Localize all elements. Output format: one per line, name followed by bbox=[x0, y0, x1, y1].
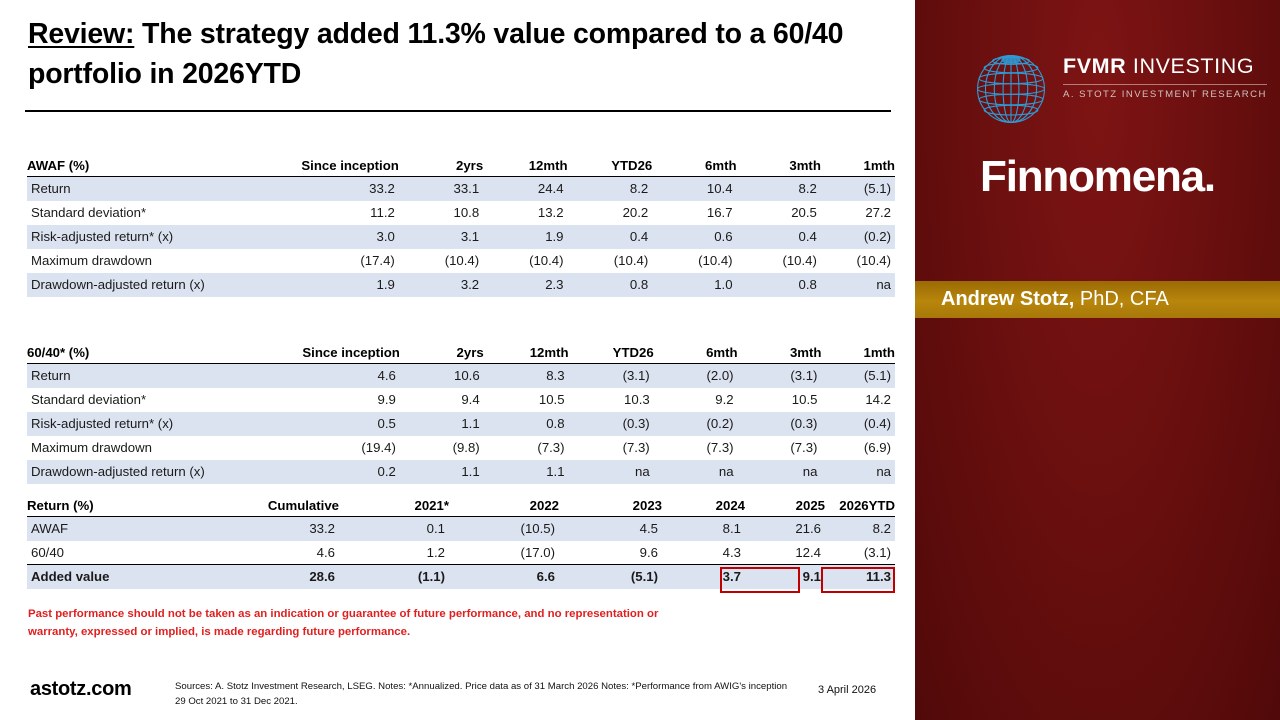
cell: (10.4) bbox=[652, 249, 736, 273]
fvmr-light: INVESTING bbox=[1126, 54, 1254, 78]
cell: 33.1 bbox=[399, 177, 483, 201]
table-annual-returns: Return (%) Cumulative 2021* 2022 2023 20… bbox=[27, 496, 895, 589]
col-header: 6mth bbox=[654, 343, 738, 364]
table-row: 60/40 4.6 1.2 (17.0) 9.6 4.3 12.4 (3.1) bbox=[27, 541, 895, 565]
col-header: 60/40* (%) bbox=[27, 343, 269, 364]
table-row: Risk-adjusted return* (x) 3.0 3.1 1.9 0.… bbox=[27, 225, 895, 249]
author-name-bold: Andrew Stotz, bbox=[941, 288, 1074, 310]
cell: 0.8 bbox=[484, 412, 569, 436]
cell: 16.7 bbox=[652, 201, 736, 225]
row-label: Added value bbox=[27, 565, 202, 589]
cell: 0.8 bbox=[568, 273, 653, 297]
cell: 1.9 bbox=[483, 225, 567, 249]
cell: na bbox=[738, 460, 822, 484]
cell: na bbox=[821, 273, 895, 297]
cell: 28.6 bbox=[202, 565, 339, 589]
cell: (2.0) bbox=[654, 364, 738, 388]
cell: (10.4) bbox=[483, 249, 567, 273]
cell: 9.4 bbox=[400, 388, 484, 412]
cell: 14.2 bbox=[821, 388, 895, 412]
col-header: 2024 bbox=[662, 496, 745, 517]
fvmr-bold: FVMR bbox=[1063, 54, 1126, 78]
table-row: Return 4.6 10.6 8.3 (3.1) (2.0) (3.1) (5… bbox=[27, 364, 895, 388]
fvmr-logo-text: FVMR INVESTING A. STOTZ INVESTMENT RESEA… bbox=[1063, 54, 1273, 100]
cell: 1.2 bbox=[339, 541, 449, 565]
col-header: 2026YTD bbox=[825, 496, 895, 517]
cell: 1.1 bbox=[400, 412, 484, 436]
title-divider bbox=[25, 110, 891, 112]
cell: 0.6 bbox=[652, 225, 736, 249]
table-row: AWAF 33.2 0.1 (10.5) 4.5 8.1 21.6 8.2 bbox=[27, 517, 895, 541]
table-row: Standard deviation* 11.2 10.8 13.2 20.2 … bbox=[27, 201, 895, 225]
col-header: 3mth bbox=[737, 156, 821, 177]
table-header-row: Return (%) Cumulative 2021* 2022 2023 20… bbox=[27, 496, 895, 517]
cell: 12.4 bbox=[745, 541, 825, 565]
cell: 10.8 bbox=[399, 201, 483, 225]
fvmr-wordmark: FVMR INVESTING bbox=[1063, 54, 1273, 79]
cell: 11.2 bbox=[268, 201, 398, 225]
col-header: 2yrs bbox=[399, 156, 483, 177]
row-label: Return bbox=[27, 364, 269, 388]
cell: 3.7 bbox=[662, 565, 745, 589]
row-label: AWAF bbox=[27, 517, 202, 541]
col-header: YTD26 bbox=[568, 156, 653, 177]
cell: 1.1 bbox=[484, 460, 569, 484]
cell: 4.6 bbox=[269, 364, 400, 388]
row-label: Risk-adjusted return* (x) bbox=[27, 225, 268, 249]
row-label: Return bbox=[27, 177, 268, 201]
cell: (5.1) bbox=[821, 364, 895, 388]
author-credentials: PhD, CFA bbox=[1074, 288, 1168, 310]
table-awaf: AWAF (%) Since inception 2yrs 12mth YTD2… bbox=[27, 156, 895, 297]
cell: (6.9) bbox=[821, 436, 895, 460]
cell: (7.3) bbox=[654, 436, 738, 460]
col-header: 2022 bbox=[449, 496, 559, 517]
author-bar: Andrew Stotz, PhD, CFA bbox=[915, 281, 1280, 318]
cell: 1.9 bbox=[268, 273, 398, 297]
cell: (3.1) bbox=[738, 364, 822, 388]
cell: 20.2 bbox=[568, 201, 653, 225]
row-label: 60/40 bbox=[27, 541, 202, 565]
cell: 0.4 bbox=[737, 225, 821, 249]
finnomena-wordmark: Finnomena. bbox=[915, 152, 1280, 202]
cell: 9.9 bbox=[269, 388, 400, 412]
fvmr-subtitle: A. STOTZ INVESTMENT RESEARCH bbox=[1063, 89, 1273, 100]
fvmr-divider bbox=[1063, 84, 1267, 85]
author-name: Andrew Stotz, PhD, CFA bbox=[941, 288, 1169, 311]
cell: 33.2 bbox=[268, 177, 398, 201]
cell: 8.3 bbox=[484, 364, 569, 388]
table-header-row: 60/40* (%) Since inception 2yrs 12mth YT… bbox=[27, 343, 895, 364]
cell: (7.3) bbox=[484, 436, 569, 460]
col-header: 2023 bbox=[559, 496, 662, 517]
table-header-row: AWAF (%) Since inception 2yrs 12mth YTD2… bbox=[27, 156, 895, 177]
cell: 10.5 bbox=[738, 388, 822, 412]
cell: (0.3) bbox=[738, 412, 822, 436]
cell: 33.2 bbox=[202, 517, 339, 541]
table-row: Maximum drawdown (17.4) (10.4) (10.4) (1… bbox=[27, 249, 895, 273]
cell: 13.2 bbox=[483, 201, 567, 225]
cell: 4.3 bbox=[662, 541, 745, 565]
cell: (10.5) bbox=[449, 517, 559, 541]
cell: 3.2 bbox=[399, 273, 483, 297]
cell: (9.8) bbox=[400, 436, 484, 460]
col-header: Since inception bbox=[269, 343, 400, 364]
cell: (17.4) bbox=[268, 249, 398, 273]
table-row: Drawdown-adjusted return (x) 0.2 1.1 1.1… bbox=[27, 460, 895, 484]
globe-icon bbox=[967, 45, 1055, 133]
table-row-added-value: Added value 28.6 (1.1) 6.6 (5.1) 3.7 9.1… bbox=[27, 565, 895, 589]
table-row: Drawdown-adjusted return (x) 1.9 3.2 2.3… bbox=[27, 273, 895, 297]
cell: (7.3) bbox=[569, 436, 654, 460]
col-header: 3mth bbox=[738, 343, 822, 364]
cell: (17.0) bbox=[449, 541, 559, 565]
cell: 1.1 bbox=[400, 460, 484, 484]
cell: (19.4) bbox=[269, 436, 400, 460]
slide-date: 3 April 2026 bbox=[818, 684, 876, 696]
cell: (3.1) bbox=[825, 541, 895, 565]
cell: 1.0 bbox=[652, 273, 736, 297]
cell: 8.1 bbox=[662, 517, 745, 541]
cell: 0.8 bbox=[737, 273, 821, 297]
row-label: Standard deviation* bbox=[27, 388, 269, 412]
col-header: AWAF (%) bbox=[27, 156, 268, 177]
sources-note: Sources: A. Stotz Investment Research, L… bbox=[175, 679, 795, 710]
cell: 8.2 bbox=[825, 517, 895, 541]
col-header: 12mth bbox=[483, 156, 567, 177]
cell: (5.1) bbox=[559, 565, 662, 589]
cell: (5.1) bbox=[821, 177, 895, 201]
col-header: 2021* bbox=[339, 496, 449, 517]
table-row: Return 33.2 33.1 24.4 8.2 10.4 8.2 (5.1) bbox=[27, 177, 895, 201]
col-header: 1mth bbox=[821, 156, 895, 177]
fvmr-logo: FVMR INVESTING A. STOTZ INVESTMENT RESEA… bbox=[935, 40, 1265, 140]
cell: 10.5 bbox=[484, 388, 569, 412]
cell: 9.6 bbox=[559, 541, 662, 565]
cell: (10.4) bbox=[821, 249, 895, 273]
col-header: 1mth bbox=[821, 343, 895, 364]
cell: 4.5 bbox=[559, 517, 662, 541]
cell: (10.4) bbox=[568, 249, 653, 273]
col-header: YTD26 bbox=[569, 343, 654, 364]
row-label: Risk-adjusted return* (x) bbox=[27, 412, 269, 436]
cell: 0.1 bbox=[339, 517, 449, 541]
col-header: Cumulative bbox=[202, 496, 339, 517]
row-label: Drawdown-adjusted return (x) bbox=[27, 460, 269, 484]
row-label: Maximum drawdown bbox=[27, 249, 268, 273]
cell: 0.2 bbox=[269, 460, 400, 484]
cell: 3.1 bbox=[399, 225, 483, 249]
cell: (0.2) bbox=[821, 225, 895, 249]
cell: 4.6 bbox=[202, 541, 339, 565]
cell: 9.2 bbox=[654, 388, 738, 412]
cell: 3.0 bbox=[268, 225, 398, 249]
slide-root: Review: The strategy added 11.3% value c… bbox=[0, 0, 1280, 720]
cell: (0.3) bbox=[569, 412, 654, 436]
cell: 24.4 bbox=[483, 177, 567, 201]
cell: 27.2 bbox=[821, 201, 895, 225]
page-title: Review: The strategy added 11.3% value c… bbox=[28, 14, 888, 95]
cell: na bbox=[821, 460, 895, 484]
cell: (10.4) bbox=[399, 249, 483, 273]
cell: na bbox=[654, 460, 738, 484]
col-header: 6mth bbox=[652, 156, 736, 177]
table-row: Maximum drawdown (19.4) (9.8) (7.3) (7.3… bbox=[27, 436, 895, 460]
cell: 8.2 bbox=[568, 177, 653, 201]
col-header: Since inception bbox=[268, 156, 398, 177]
table-row: Risk-adjusted return* (x) 0.5 1.1 0.8 (0… bbox=[27, 412, 895, 436]
cell: (10.4) bbox=[737, 249, 821, 273]
page-title-prefix: Review: bbox=[28, 18, 134, 50]
astotz-site-label: astotz.com bbox=[30, 678, 131, 701]
cell: (3.1) bbox=[569, 364, 654, 388]
cell: na bbox=[569, 460, 654, 484]
cell: 21.6 bbox=[745, 517, 825, 541]
slide-content-area: Review: The strategy added 11.3% value c… bbox=[0, 0, 915, 720]
cell: 8.2 bbox=[737, 177, 821, 201]
cell: (1.1) bbox=[339, 565, 449, 589]
cell: 0.5 bbox=[269, 412, 400, 436]
cell: 10.4 bbox=[652, 177, 736, 201]
cell: 2.3 bbox=[483, 273, 567, 297]
right-brand-panel: FVMR INVESTING A. STOTZ INVESTMENT RESEA… bbox=[915, 0, 1280, 720]
cell: 9.1 bbox=[745, 565, 825, 589]
cell: 6.6 bbox=[449, 565, 559, 589]
col-header: Return (%) bbox=[27, 496, 202, 517]
cell: (0.4) bbox=[821, 412, 895, 436]
row-label: Standard deviation* bbox=[27, 201, 268, 225]
col-header: 2yrs bbox=[400, 343, 484, 364]
col-header: 12mth bbox=[484, 343, 569, 364]
page-title-rest: The strategy added 11.3% value compared … bbox=[28, 18, 843, 90]
table-6040: 60/40* (%) Since inception 2yrs 12mth YT… bbox=[27, 343, 895, 484]
row-label: Maximum drawdown bbox=[27, 436, 269, 460]
cell: (0.2) bbox=[654, 412, 738, 436]
row-label: Drawdown-adjusted return (x) bbox=[27, 273, 268, 297]
disclaimer-text: Past performance should not be taken as … bbox=[28, 606, 668, 641]
cell: 11.3 bbox=[825, 565, 895, 589]
cell: 10.6 bbox=[400, 364, 484, 388]
cell: 0.4 bbox=[568, 225, 653, 249]
col-header: 2025 bbox=[745, 496, 825, 517]
cell: (7.3) bbox=[738, 436, 822, 460]
cell: 10.3 bbox=[569, 388, 654, 412]
table-row: Standard deviation* 9.9 9.4 10.5 10.3 9.… bbox=[27, 388, 895, 412]
cell: 20.5 bbox=[737, 201, 821, 225]
